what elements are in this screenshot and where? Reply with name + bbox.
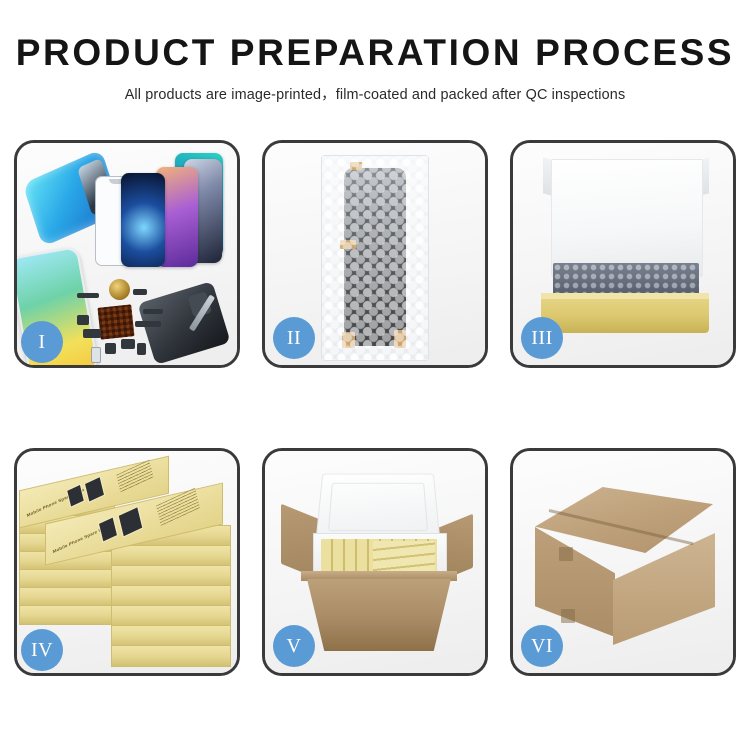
grey-bubble-wrap-contents	[553, 263, 699, 297]
step-panel-6: VI	[510, 448, 736, 676]
carton-handle-tab	[559, 547, 573, 561]
wrapped-screen	[344, 168, 406, 346]
yellow-box-tray	[541, 293, 709, 333]
yellow-box-rim	[541, 293, 709, 299]
white-foam-lid	[551, 159, 703, 277]
process-steps-grid: I II	[14, 140, 736, 676]
part-fragment	[137, 343, 146, 355]
part-fragment	[121, 339, 135, 349]
step-panel-5: V	[262, 448, 488, 676]
phone-display-2	[121, 173, 165, 267]
speaker-coil-icon	[109, 279, 130, 300]
part-fragment	[135, 321, 161, 327]
stacked-box	[111, 565, 231, 587]
part-fragment	[133, 289, 147, 295]
logic-board-chip-icon	[97, 304, 134, 339]
stacked-box	[111, 545, 231, 567]
tape-piece	[350, 162, 362, 170]
step-badge-5: V	[273, 625, 315, 667]
step-badge-3: III	[521, 317, 563, 359]
carton-body	[307, 579, 451, 651]
step-badge-1: I	[21, 321, 63, 363]
box-window-image	[118, 506, 144, 538]
box-spec-lines	[116, 460, 154, 494]
step-panel-4: Mobile Phone Spare Parts Mobile Phone Sp…	[14, 448, 240, 676]
part-fragment	[77, 315, 89, 325]
part-fragment	[83, 329, 101, 338]
stacked-box	[19, 569, 115, 589]
tape-piece	[340, 240, 356, 249]
stacked-box	[111, 585, 231, 607]
page-subtitle: All products are image-printed，film-coat…	[0, 83, 750, 104]
stacked-box	[111, 605, 231, 627]
stacked-box	[19, 605, 115, 625]
step-panel-3: III	[510, 140, 736, 368]
step-badge-4: IV	[21, 629, 63, 671]
page-title: PRODUCT PREPARATION PROCESS	[0, 34, 750, 73]
tape-piece	[394, 330, 406, 348]
step-panel-2: II	[262, 140, 488, 368]
box-window-image	[98, 516, 118, 543]
step-badge-2: II	[273, 317, 315, 359]
carton-right-face	[613, 533, 715, 645]
part-fragment	[143, 309, 163, 314]
part-fragment	[105, 343, 116, 354]
stacked-box	[111, 645, 231, 667]
box-window-image	[84, 476, 105, 503]
stacked-box	[19, 587, 115, 607]
header: PRODUCT PREPARATION PROCESS All products…	[0, 34, 750, 104]
tape-piece	[342, 332, 355, 348]
product-preparation-infographic: PRODUCT PREPARATION PROCESS All products…	[0, 0, 750, 750]
carton-handle-tab	[561, 609, 575, 623]
stacked-box	[111, 625, 231, 647]
part-fragment	[77, 293, 99, 298]
step-badge-6: VI	[521, 625, 563, 667]
part-fragment	[91, 347, 101, 363]
carton-left-face	[535, 527, 615, 637]
step-panel-1: I	[14, 140, 240, 368]
bubble-wrap-bag	[321, 155, 429, 361]
